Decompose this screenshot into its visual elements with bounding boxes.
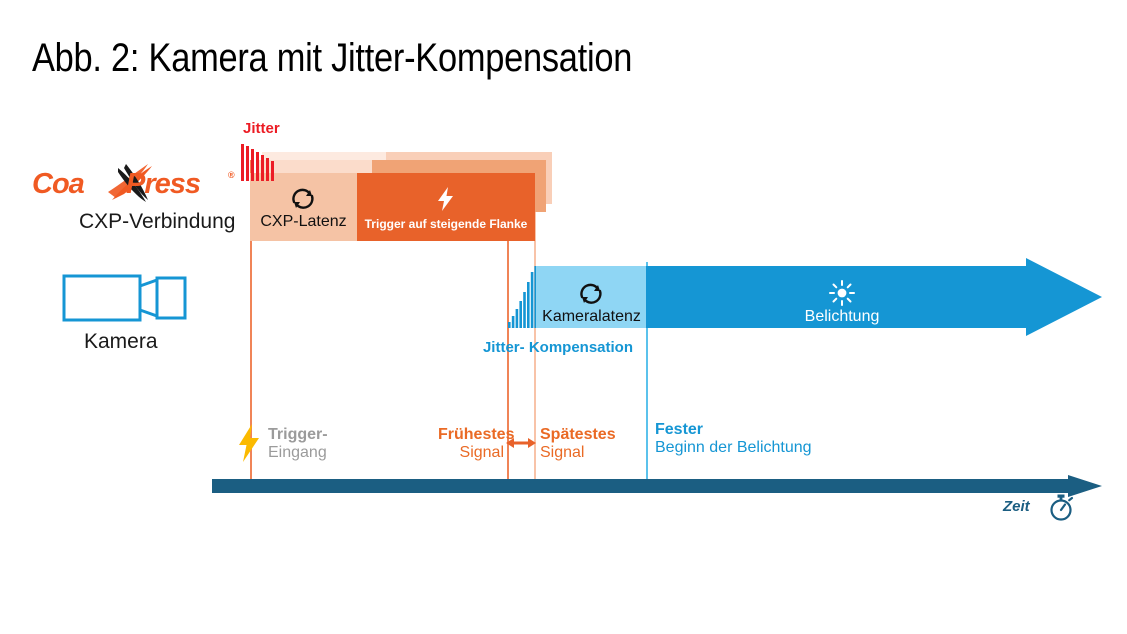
- jitter-stripes-icon: [241, 144, 277, 181]
- double-arrow-icon: [506, 434, 536, 452]
- cxp-connection-label: CXP-Verbindung: [79, 210, 235, 234]
- trigger-input-line2: Eingang: [268, 444, 328, 462]
- jitter-compensation-line1: Jitter-: [483, 339, 525, 356]
- camera-row-legend: Kamera: [62, 272, 242, 358]
- fixed-exposure-line1: Fester: [655, 421, 812, 439]
- figure-canvas: Abb. 2: Kamera mit Jitter-Kompensation C…: [0, 0, 1127, 634]
- jitter-compensation-stripes-icon: [508, 266, 537, 328]
- jitter-compensation-label: Jitter- Kompensation: [468, 337, 648, 358]
- coaxpress-logo: Coa Press ® CXP-Verbindung: [32, 168, 252, 240]
- camera-label: Kamera: [84, 330, 158, 354]
- stopwatch-icon: [1046, 492, 1076, 522]
- coaxpress-wordmark: Coa Press ®: [32, 168, 222, 204]
- exposure-label: Belichtung: [646, 308, 1038, 326]
- figure-title: Abb. 2: Kamera mit Jitter-Kompensation: [32, 36, 632, 80]
- logo-text-coa: Coa: [32, 168, 84, 204]
- earliest-signal-line2: Signal: [438, 444, 504, 462]
- jitter-compensation-line2: Kompensation: [529, 339, 633, 356]
- latest-signal-line2: Signal: [540, 444, 616, 462]
- lightning-bolt-icon: [434, 186, 458, 212]
- latest-signal-line1: Spätestes: [540, 426, 616, 444]
- camera-icon: [62, 272, 187, 324]
- time-axis-arrow: [212, 475, 1102, 497]
- registered-trademark-icon: ®: [228, 170, 235, 180]
- trigger-input-annotation: Trigger- Eingang: [268, 426, 328, 462]
- trigger-input-line1: Trigger-: [268, 426, 328, 444]
- lightning-bolt-icon: [237, 424, 261, 462]
- cxp-latency-label: CXP-Latenz: [250, 213, 357, 231]
- refresh-cycle-icon: [578, 281, 604, 307]
- time-axis-label: Zeit: [1003, 498, 1030, 515]
- sun-icon: [828, 280, 856, 306]
- latest-signal-annotation: Spätestes Signal: [540, 426, 616, 462]
- logo-text-press: Press: [126, 168, 200, 204]
- refresh-cycle-icon: [290, 186, 316, 212]
- earliest-signal-line1: Frühestes: [438, 426, 504, 444]
- fixed-exposure-line2: Beginn der Belichtung: [655, 439, 812, 457]
- camera-latency-label: Kameralatenz: [536, 308, 647, 326]
- jitter-label: Jitter: [243, 120, 280, 137]
- trigger-rising-edge-label: Trigger auf steigende Flanke: [357, 217, 535, 231]
- fixed-exposure-start-annotation: Fester Beginn der Belichtung: [655, 421, 812, 457]
- earliest-signal-annotation: Frühestes Signal: [438, 426, 504, 462]
